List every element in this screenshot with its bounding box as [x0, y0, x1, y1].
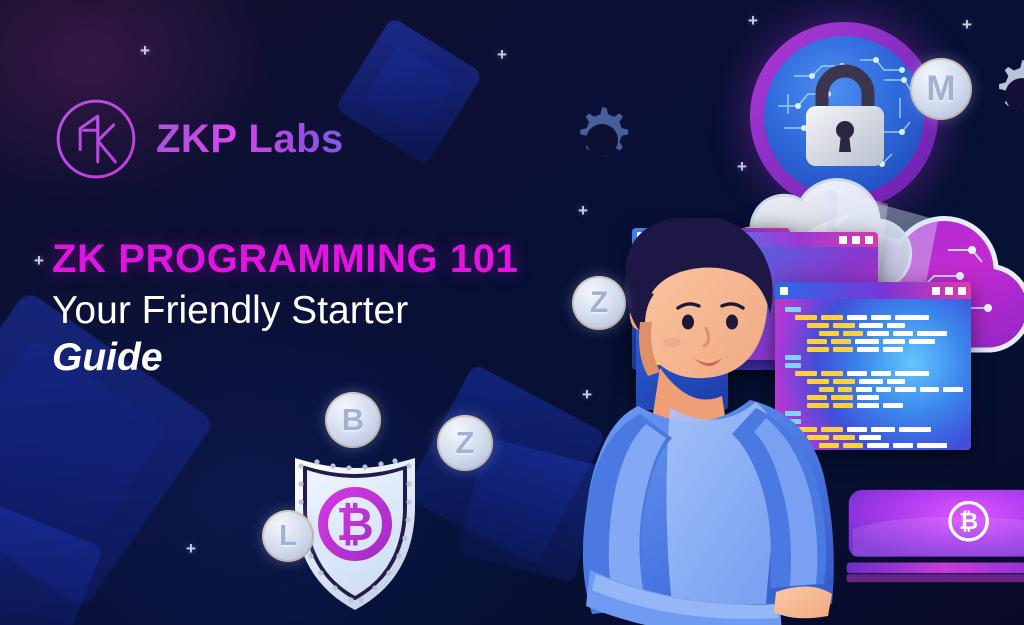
svg-text:₿: ₿ [959, 508, 978, 534]
zcash-coin-upper: Z [572, 276, 626, 330]
code-editor-buttons[interactable] [932, 287, 966, 295]
code-token [895, 387, 915, 392]
monero-coin: M [910, 58, 972, 120]
code-token [893, 443, 913, 448]
code-token [893, 331, 913, 336]
code-token [895, 371, 929, 376]
code-token [883, 403, 903, 408]
sparkle-plus-icon: + [34, 252, 44, 269]
code-token [917, 443, 947, 448]
code-token [887, 379, 905, 384]
code-token [943, 387, 963, 392]
code-token [899, 427, 931, 432]
sparkle-plus-icon: + [578, 202, 588, 219]
headline-block: ZK PROGRAMMING 101 Your Friendly Starter… [52, 238, 592, 382]
sparkle-plus-icon: + [186, 540, 196, 557]
window-button-close[interactable] [958, 287, 966, 295]
window-button-maximize[interactable] [945, 287, 953, 295]
sparkle-plus-icon: + [748, 12, 758, 29]
brand-name: ZKP Labs [156, 117, 344, 162]
background-cube-top [335, 17, 484, 166]
svg-text:₿: ₿ [336, 498, 374, 550]
hero-banner: +++++++++++ ZKP Labs ZK PROGRAMMING 101 … [0, 0, 1024, 625]
headline-line-1: ZK PROGRAMMING 101 [52, 238, 592, 280]
brand-logo[interactable]: ZKP Labs [52, 95, 344, 183]
zkp-monogram-icon [52, 95, 140, 183]
zcash-coin-upper-symbol: Z [590, 286, 608, 320]
code-token [887, 323, 905, 328]
litecoin-coin-symbol: L [279, 520, 297, 553]
headline-line-3: Guide [52, 335, 592, 382]
code-token [883, 339, 905, 344]
gear-left-icon [567, 105, 637, 175]
developer-character [520, 218, 880, 625]
zcash-coin-lower: Z [437, 415, 493, 471]
sparkle-plus-icon: + [962, 16, 972, 33]
sparkle-plus-icon: + [140, 42, 150, 59]
headline-line-2: Your Friendly Starter [52, 286, 592, 337]
sparkle-plus-icon: + [497, 46, 507, 63]
gear-right-top-icon [985, 58, 1024, 132]
code-token [920, 387, 939, 392]
code-token [883, 347, 903, 352]
monero-coin-symbol: M [926, 69, 955, 109]
litecoin-coin: L [262, 510, 314, 562]
bitcoin-coin: B [325, 392, 381, 448]
code-token [909, 339, 935, 344]
window-button-minimize[interactable] [932, 287, 940, 295]
code-token [917, 331, 947, 336]
bitcoin-coin-symbol: B [342, 402, 364, 438]
laptop[interactable]: ₿ [845, 480, 1024, 590]
code-token [895, 315, 929, 320]
zcash-coin-lower-symbol: Z [456, 425, 475, 461]
